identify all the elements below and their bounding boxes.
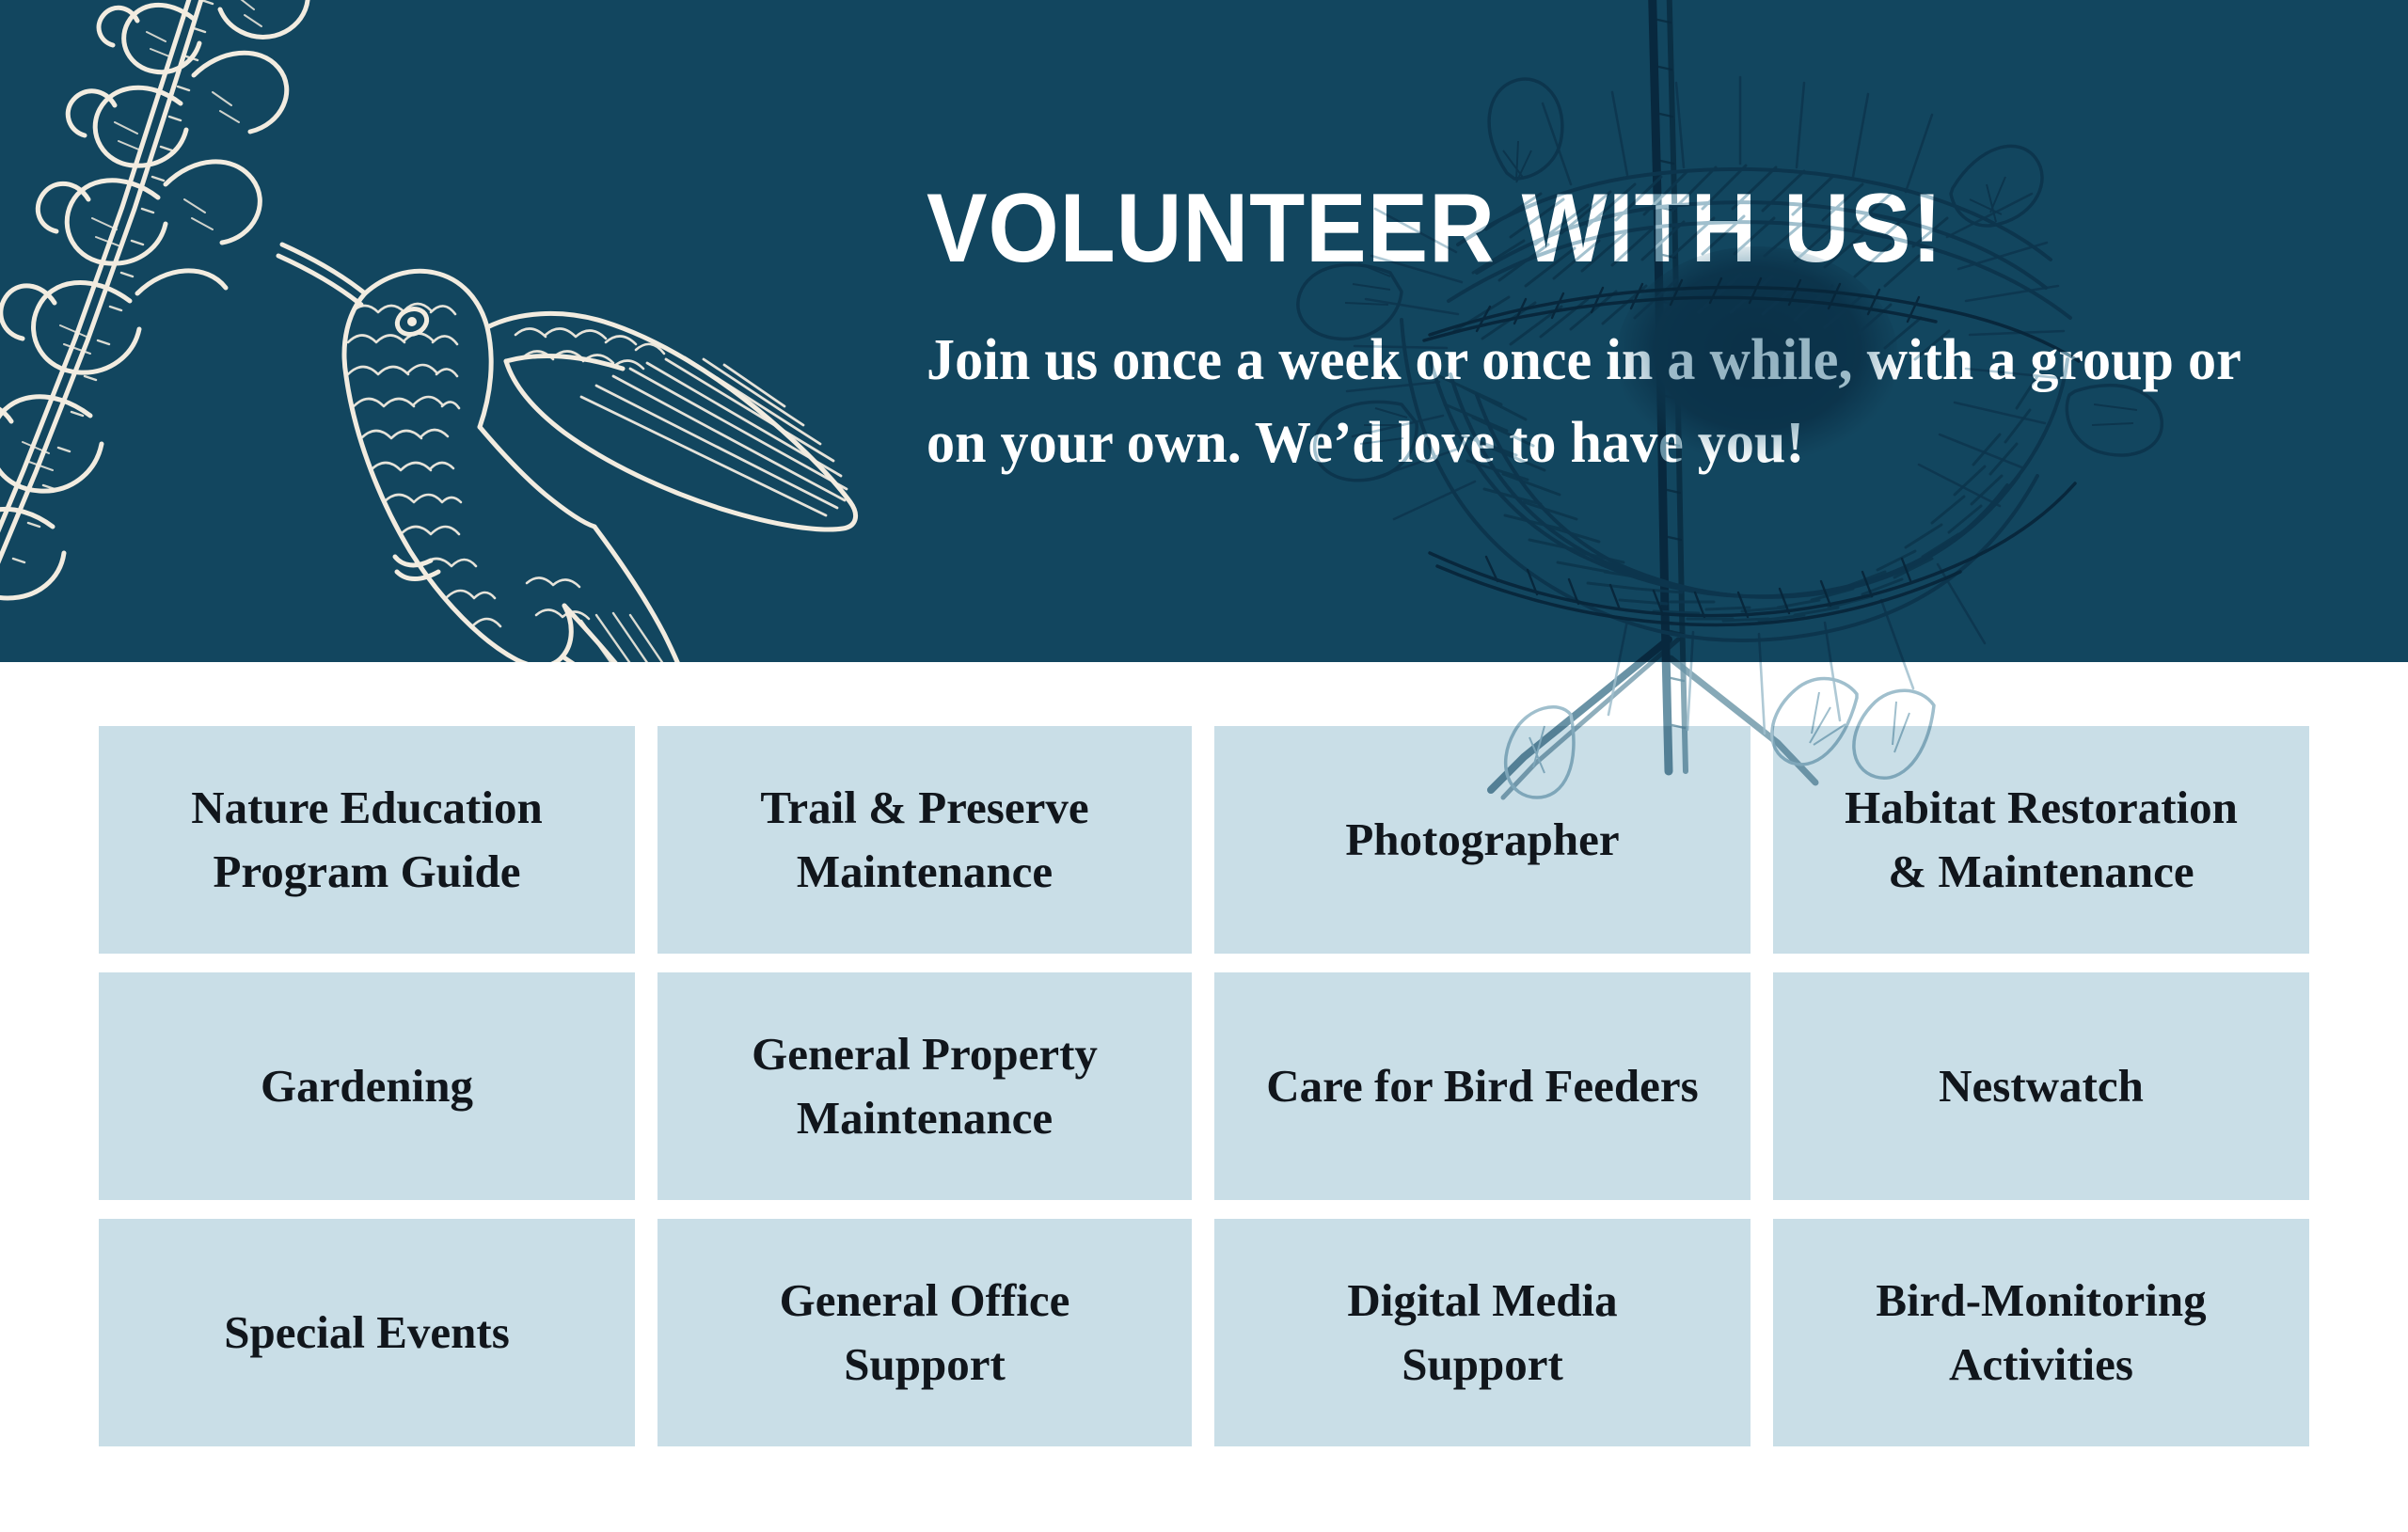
page-title: VOLUNTEER WITH US!: [927, 178, 1943, 280]
opportunity-label: Habitat Restoration & Maintenance: [1828, 776, 2255, 903]
header-banner: VOLUNTEER WITH US! Join us once a week o…: [0, 0, 2408, 662]
opportunity-label: Bird-Monitoring Activities: [1859, 1269, 2223, 1396]
opportunity-cell-general-property-maintenance[interactable]: General Property Maintenance: [657, 972, 1192, 1200]
volunteer-opportunities-section: Nature Education Program Guide Trail & P…: [99, 726, 2309, 1446]
opportunity-cell-special-events[interactable]: Special Events: [99, 1219, 635, 1446]
opportunity-label: Nature Education Program Guide: [174, 776, 559, 903]
volunteer-opportunities-grid: Nature Education Program Guide Trail & P…: [99, 726, 2309, 1446]
opportunity-cell-digital-media-support[interactable]: Digital Media Support: [1214, 1219, 1751, 1446]
opportunity-label: Digital Media Support: [1330, 1269, 1634, 1396]
hummingbird-illustration: [0, 0, 931, 662]
opportunity-label: General Office Support: [763, 1269, 1087, 1396]
opportunity-cell-bird-monitoring-activities[interactable]: Bird-Monitoring Activities: [1773, 1219, 2309, 1446]
header-text-block: VOLUNTEER WITH US! Join us once a week o…: [927, 0, 2356, 662]
opportunity-label: Nestwatch: [1922, 1054, 2161, 1118]
opportunity-label: Special Events: [207, 1301, 527, 1365]
opportunity-label: Care for Bird Feeders: [1249, 1054, 1715, 1118]
opportunity-cell-care-for-bird-feeders[interactable]: Care for Bird Feeders: [1214, 972, 1751, 1200]
opportunity-label: Photographer: [1328, 808, 1636, 872]
opportunity-cell-nature-education-program-guide[interactable]: Nature Education Program Guide: [99, 726, 635, 954]
page-subtitle: Join us once a week or once in a while, …: [927, 319, 2295, 484]
opportunity-label: General Property Maintenance: [735, 1022, 1115, 1149]
opportunity-label: Trail & Preserve Maintenance: [743, 776, 1105, 903]
opportunity-cell-photographer[interactable]: Photographer: [1214, 726, 1751, 954]
opportunity-cell-gardening[interactable]: Gardening: [99, 972, 635, 1200]
opportunity-label: Gardening: [244, 1054, 490, 1118]
opportunity-cell-habitat-restoration-and-maintenance[interactable]: Habitat Restoration & Maintenance: [1773, 726, 2309, 954]
opportunity-cell-trail-and-preserve-maintenance[interactable]: Trail & Preserve Maintenance: [657, 726, 1192, 954]
opportunity-cell-general-office-support[interactable]: General Office Support: [657, 1219, 1192, 1446]
opportunity-cell-nestwatch[interactable]: Nestwatch: [1773, 972, 2309, 1200]
